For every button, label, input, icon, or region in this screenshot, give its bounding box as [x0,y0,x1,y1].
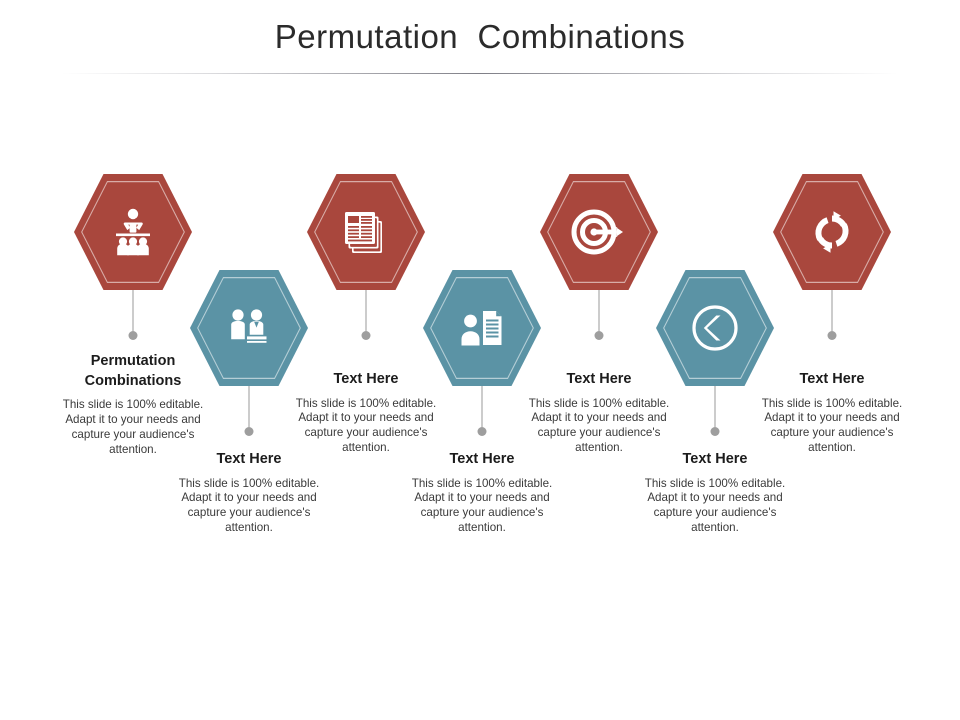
hexagon-badge-7[interactable] [773,174,891,290]
connector-line-5 [599,290,600,332]
connector-dot-4 [478,427,487,436]
connector-line-7 [832,290,833,332]
connector-dot-7 [828,331,837,340]
connector-dot-6 [711,427,720,436]
refresh-cycle-icon [773,174,891,290]
connector-dot-5 [595,331,604,340]
column-body-7: This slide is 100% editable. Adapt it to… [751,397,913,456]
connector-line-3 [366,290,367,332]
slide-canvas: Permutation Combinations [0,0,960,720]
connector-line-2 [249,386,250,428]
connector-line-6 [715,386,716,428]
connector-dot-2 [245,427,254,436]
connector-line-1 [133,290,134,332]
text-block-7: Text Here This slide is 100% editable. A… [751,370,913,456]
column-heading-7: Text Here [751,370,913,390]
infographic-column-7[interactable]: Text Here This slide is 100% editable. A… [757,0,907,720]
connector-line-4 [482,386,483,428]
connector-dot-3 [362,331,371,340]
connector-dot-1 [129,331,138,340]
